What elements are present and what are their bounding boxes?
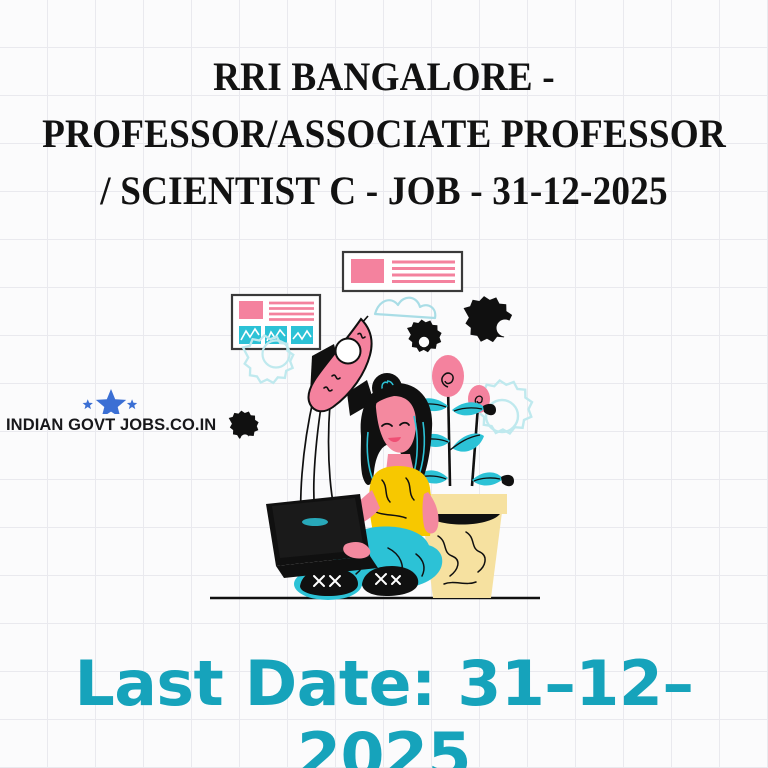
job-poster: RRI BANGALORE - PROFESSOR/ASSOCIATE PROF… (0, 0, 768, 768)
title-line-2: PROFESSOR/ASSOCIATE PROFESSOR (40, 105, 728, 162)
title-line-3: / SCIENTIST C - JOB - 31-12-2025 (40, 162, 728, 219)
leaf (472, 472, 514, 486)
cloud-icon (375, 298, 435, 318)
logo-text: INDIAN GOVT JOBS.CO.IN (6, 416, 216, 435)
leaf (450, 433, 484, 451)
flower-large (432, 355, 464, 397)
gear-black-small (407, 320, 442, 353)
gear-black-tiny (229, 411, 259, 444)
hero-illustration (210, 236, 580, 626)
title-line-1: RRI BANGALORE - (40, 48, 728, 105)
last-date-banner: Last Date: 31–12–2025 (0, 648, 768, 768)
page-title: RRI BANGALORE - PROFESSOR/ASSOCIATE PROF… (0, 48, 768, 219)
top-document-card (343, 252, 462, 291)
leaf (452, 402, 496, 415)
stars-icon (6, 388, 216, 414)
site-logo: INDIAN GOVT JOBS.CO.IN (6, 388, 216, 435)
gear-black-large (464, 296, 514, 342)
last-date-text: Last Date: 31–12–2025 (0, 648, 768, 768)
gear-outline-left (243, 335, 293, 383)
laptop-icon (266, 494, 378, 578)
